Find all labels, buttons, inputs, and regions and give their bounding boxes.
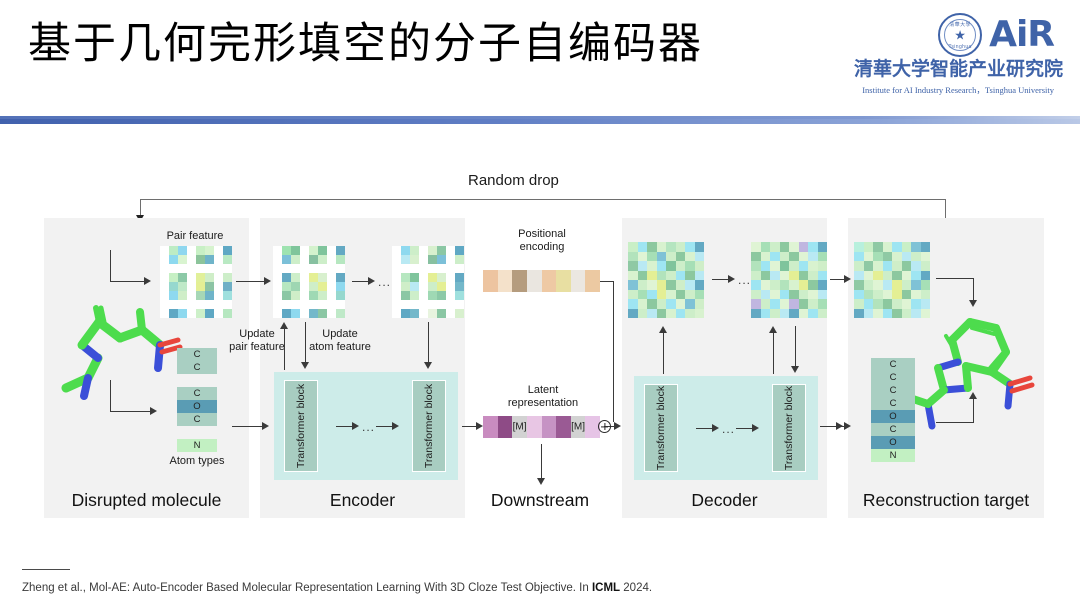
pos-enc-to-add-v xyxy=(613,281,614,422)
positional-encoding-segment xyxy=(585,270,600,292)
update-pair-feature-caption: Update pair feature xyxy=(222,328,292,354)
atom-type-cell-blank xyxy=(177,426,217,439)
recon-atoms-elbow-v xyxy=(973,398,974,423)
decoder-transformer-stack: Transformer block Transformer block ... xyxy=(634,376,818,480)
update-pair-feature-arrow-line xyxy=(284,328,285,370)
atom-type-cell: C xyxy=(871,423,915,436)
downstream-arrowhead xyxy=(537,478,545,485)
latent-segment xyxy=(556,416,571,438)
citation-prefix: Zheng et al., Mol-AE: Auto-Encoder Based… xyxy=(22,582,592,594)
arrow-atoms-to-encoder xyxy=(232,426,262,427)
encoder-tf-dots-head-1 xyxy=(352,422,359,430)
transformer-block-label: Transformer block xyxy=(295,384,307,468)
header-divider-highlight xyxy=(0,116,1080,119)
panel-label-disrupted-molecule: Disrupted molecule xyxy=(44,490,249,511)
encoder-tf-dots-head-2 xyxy=(392,422,399,430)
latent-representation-caption: Latent representation xyxy=(488,384,598,410)
atom-type-cell: O xyxy=(871,410,915,423)
panel-label-reconstruction-target: Reconstruction target xyxy=(848,490,1044,511)
encoder-tf-ellipsis: ... xyxy=(362,421,375,433)
atom-type-cell: C xyxy=(177,413,217,426)
decoder-transformer-block-first: Transformer block xyxy=(644,384,678,472)
branch-down-line xyxy=(110,380,111,412)
arrow-pair-to-encoder xyxy=(236,281,264,282)
branch-up-line xyxy=(110,250,111,282)
decoder-up-arrow-1-line xyxy=(663,332,664,374)
latent-segment-masked: [M] xyxy=(512,416,527,438)
panel-label-downstream: Downstream xyxy=(470,490,610,511)
decoder-tf-ellipsis: ... xyxy=(722,423,735,435)
encoder-last-down-arrowhead xyxy=(424,362,432,369)
decoder-matrix-ellipsis: ... xyxy=(738,274,751,286)
transformer-block-label: Transformer block xyxy=(783,386,795,470)
positional-encoding-segment xyxy=(498,270,513,292)
encoder-last-down-line xyxy=(428,322,429,364)
decoder-down-arrow-line xyxy=(795,326,796,368)
latent-segment xyxy=(527,416,542,438)
random-drop-label: Random drop xyxy=(468,172,559,190)
branch-up-arm xyxy=(110,281,144,282)
atom-type-cell: O xyxy=(871,436,915,449)
logo-top-row: 清華大學 ★ Tsinghua AiR xyxy=(854,12,1054,58)
arrow-atoms-to-encoder-head xyxy=(262,422,269,430)
positional-encoding-line1: Positional xyxy=(500,228,584,241)
footer-divider xyxy=(22,569,70,570)
branch-down-arm xyxy=(110,411,150,412)
transformer-block-label: Transformer block xyxy=(655,386,667,470)
latent-segment xyxy=(483,416,498,438)
decoder-tf-dots-head-2 xyxy=(752,424,759,432)
decoder-up-arrow-2-head xyxy=(769,326,777,333)
update-atom-feature-caption: Update atom feature xyxy=(300,328,380,354)
latent-segment xyxy=(498,416,513,438)
disrupted-molecule-structure xyxy=(58,300,188,410)
architecture-diagram: Random drop Disrupted molecule Pair feat… xyxy=(0,150,1080,550)
air-tsinghua-logo: 清華大學 ★ Tsinghua AiR 清華大学智能产业研究院 Institut… xyxy=(854,12,1054,104)
decoder-matrix-first xyxy=(628,242,704,318)
recon-matrix-elbow-h xyxy=(936,278,974,279)
update-atom-feature-line1: Update xyxy=(300,328,380,341)
latent-segment-masked: [M] xyxy=(571,416,586,438)
citation-text: Zheng et al., Mol-AE: Auto-Encoder Based… xyxy=(22,581,1062,596)
update-atom-feature-arrow-line xyxy=(305,322,306,364)
add-to-decoder-arrowhead xyxy=(614,422,621,430)
branch-up-arrowhead xyxy=(144,277,151,285)
pos-enc-to-add-h xyxy=(600,281,614,282)
mask-token-label: [M] xyxy=(571,422,585,433)
update-pair-feature-arrowhead xyxy=(280,322,288,329)
atom-type-cell: C xyxy=(177,348,217,361)
atom-type-cell: O xyxy=(177,400,217,413)
arrow-into-recon-atoms-head xyxy=(844,422,851,430)
atom-types-output-column: C C C C O C O N xyxy=(871,358,915,462)
panel-label-encoder: Encoder xyxy=(260,490,465,511)
decoder-up-arrow-1-head xyxy=(659,326,667,333)
encoder-transformer-block-last: Transformer block xyxy=(412,380,446,472)
atom-type-cell: C xyxy=(871,358,915,371)
recon-atoms-elbow-head xyxy=(969,392,977,399)
update-atom-feature-line2: atom feature xyxy=(300,341,380,354)
reconstruction-matrix xyxy=(854,242,930,318)
decoder-tf-dots-head-1 xyxy=(712,424,719,432)
encoder-transformer-stack: Transformer block Transformer block ... xyxy=(274,372,458,480)
decoder-dots-head-1 xyxy=(728,275,735,283)
seal-star-icon: ★ xyxy=(954,29,966,42)
citation-suffix: 2024. xyxy=(620,582,652,594)
atom-type-cell: N xyxy=(871,449,915,462)
arrow-pair-to-encoder-head xyxy=(264,277,271,285)
panel-label-decoder: Decoder xyxy=(622,490,827,511)
arrow-encoder-to-latent-head xyxy=(476,422,483,430)
downstream-arrow-line xyxy=(541,444,542,480)
positional-encoding-caption: Positional encoding xyxy=(500,228,584,254)
positional-encoding-bar xyxy=(483,270,600,292)
decoder-up-arrow-2-line xyxy=(773,332,774,374)
random-drop-line-top xyxy=(140,199,946,200)
atom-type-cell-blank xyxy=(177,374,217,387)
arrow-into-recon-matrix-head xyxy=(844,275,851,283)
pair-feature-matrix-encoder-last xyxy=(392,246,464,318)
update-pair-feature-line2: pair feature xyxy=(222,341,292,354)
positional-encoding-segment xyxy=(483,270,498,292)
encoder-transformer-block-first: Transformer block xyxy=(284,380,318,472)
positional-encoding-segment xyxy=(512,270,527,292)
logo-english-name: Institute for AI Industry Research，Tsing… xyxy=(854,84,1054,96)
atom-types-input-column: C C C O C N xyxy=(177,348,217,452)
positional-encoding-segment xyxy=(556,270,571,292)
atom-type-cell: C xyxy=(871,384,915,397)
branch-down-arrowhead xyxy=(150,407,157,415)
decoder-matrix-last xyxy=(751,242,827,318)
atom-types-caption: Atom types xyxy=(157,455,237,468)
mask-token-label: [M] xyxy=(513,422,527,433)
air-wordmark: AiR xyxy=(989,17,1054,53)
seal-bottom-text: Tsinghua xyxy=(948,44,971,50)
encoder-pair-dots-head-1 xyxy=(368,277,375,285)
positional-encoding-line2: encoding xyxy=(500,241,584,254)
positional-encoding-segment xyxy=(571,270,586,292)
update-atom-feature-arrowhead xyxy=(301,362,309,369)
logo-chinese-name: 清華大学智能产业研究院 xyxy=(854,59,1054,80)
latent-representation-line2: representation xyxy=(488,397,598,410)
positional-encoding-segment xyxy=(527,270,542,292)
decoder-down-arrow-head xyxy=(791,366,799,373)
latent-representation-line1: Latent xyxy=(488,384,598,397)
atom-type-cell: C xyxy=(177,387,217,400)
decoder-transformer-block-last: Transformer block xyxy=(772,384,806,472)
recon-atoms-elbow-h xyxy=(936,422,974,423)
atom-type-cell: N xyxy=(177,439,217,452)
slide-header: 基于几何完形填空的分子自编码器 清華大學 ★ Tsinghua AiR 清華大学… xyxy=(0,0,1080,118)
tsinghua-seal-icon: 清華大學 ★ Tsinghua xyxy=(938,13,982,57)
atom-type-cell: C xyxy=(871,397,915,410)
pair-feature-caption: Pair feature xyxy=(151,230,239,243)
citation-venue: ICML xyxy=(592,582,620,594)
update-pair-feature-line1: Update xyxy=(222,328,292,341)
atom-type-cell: C xyxy=(871,371,915,384)
positional-encoding-segment xyxy=(542,270,557,292)
atom-type-cell: C xyxy=(177,361,217,374)
pair-feature-matrix-encoder-first xyxy=(273,246,345,318)
page-title: 基于几何完形填空的分子自编码器 xyxy=(28,18,808,72)
recon-matrix-elbow-v xyxy=(973,278,974,302)
recon-matrix-elbow-head xyxy=(969,300,977,307)
latent-representation-bar: [M] [M] xyxy=(483,416,600,438)
transformer-block-label: Transformer block xyxy=(423,384,435,468)
add-operator-icon xyxy=(598,420,611,433)
slide-footer: Zheng et al., Mol-AE: Auto-Encoder Based… xyxy=(22,569,1062,596)
latent-segment xyxy=(542,416,557,438)
encoder-pair-ellipsis: ... xyxy=(378,276,391,288)
